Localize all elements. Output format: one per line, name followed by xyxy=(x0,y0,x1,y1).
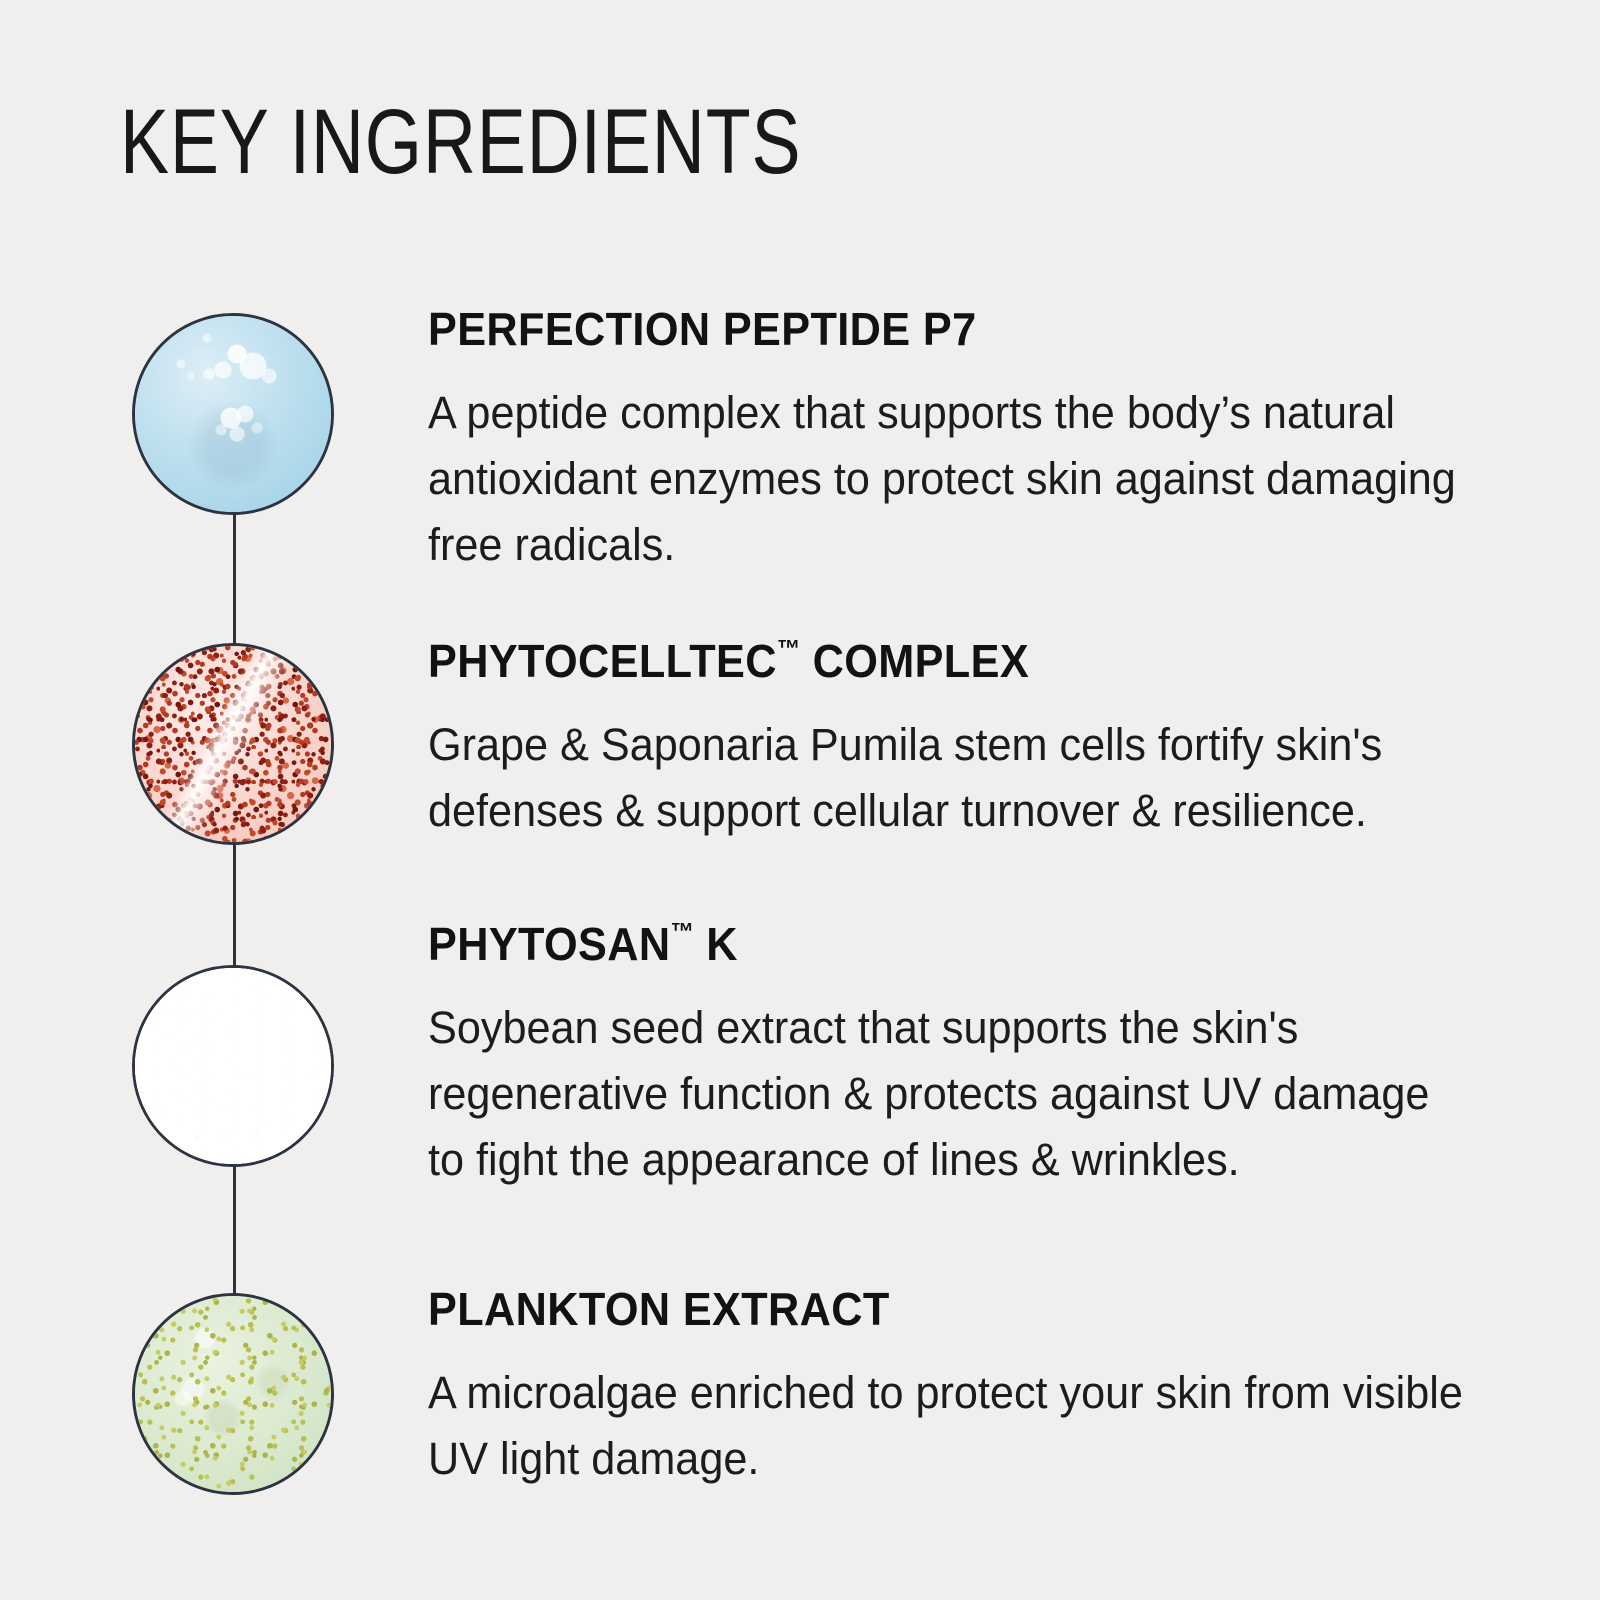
green-gel-swatch xyxy=(132,1293,334,1495)
blue-gel-bubbles-swatch xyxy=(132,313,334,515)
pink-speckled-powder-swatch xyxy=(132,643,334,845)
ingredient-text-column: PHYTOSAN™ K Soybean seed extract that su… xyxy=(428,920,1518,1193)
ingredient-name: PHYTOSAN™ K xyxy=(428,920,1453,969)
connector-line-1 xyxy=(233,513,236,643)
ingredient-name-text: PHYTOSAN xyxy=(428,918,670,970)
connector-line-3 xyxy=(233,1160,236,1295)
ingredient-name-suffix: COMPLEX xyxy=(800,635,1029,687)
ingredient-description: Grape & Saponaria Pumila stem cells fort… xyxy=(428,712,1474,844)
ingredient-description: Soybean seed extract that supports the s… xyxy=(428,995,1474,1193)
page-title: KEY INGREDIENTS xyxy=(120,96,801,188)
ingredient-description: A microalgae enriched to protect your sk… xyxy=(428,1360,1474,1492)
ingredient-name: PHYTOCELLTEC™ COMPLEX xyxy=(428,637,1453,686)
ingredient-text-column: PHYTOCELLTEC™ COMPLEX Grape & Saponaria … xyxy=(428,637,1518,844)
connector-line-2 xyxy=(233,840,236,965)
ingredient-name-suffix: K xyxy=(694,918,738,970)
ingredient-text-column: PERFECTION PEPTIDE P7 A peptide complex … xyxy=(428,305,1518,578)
white-powder-swatch xyxy=(132,965,334,1167)
ingredient-name: PERFECTION PEPTIDE P7 xyxy=(428,305,1453,354)
trademark-icon: ™ xyxy=(670,919,693,946)
ingredient-text-column: PLANKTON EXTRACT A microalgae enriched t… xyxy=(428,1285,1518,1492)
ingredient-name-text: PHYTOCELLTEC xyxy=(428,635,777,687)
ingredient-name: PLANKTON EXTRACT xyxy=(428,1285,1453,1334)
ingredient-name-text: PERFECTION PEPTIDE P7 xyxy=(428,303,977,355)
ingredient-description: A peptide complex that supports the body… xyxy=(428,380,1474,578)
trademark-icon: ™ xyxy=(777,636,800,663)
ingredient-name-text: PLANKTON EXTRACT xyxy=(428,1283,890,1335)
